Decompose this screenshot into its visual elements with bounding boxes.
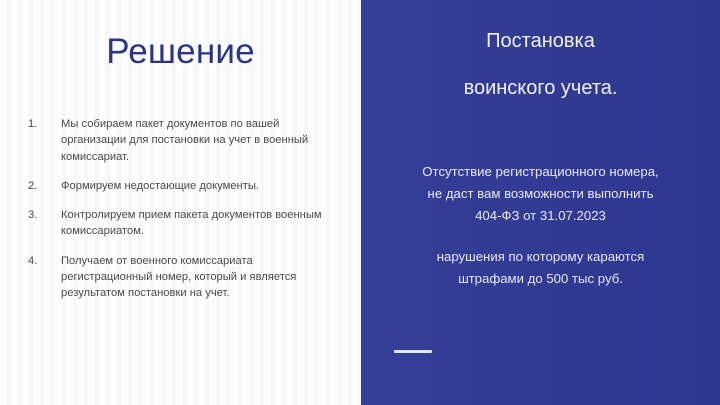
list-item-text: Формируем недостающие документы. <box>61 178 340 194</box>
panel-paragraph-one: Отсутствие регистрационного номера, не д… <box>361 161 720 227</box>
steps-list: 1. Мы собираем пакет документов по вашей… <box>28 116 340 315</box>
panel-paragraph-two: нарушения по которому караются штрафами … <box>361 246 720 290</box>
list-item-number: 4. <box>28 253 61 269</box>
presentation-slide: Решение 1. Мы собираем пакет документов … <box>0 0 720 405</box>
list-item: 4. Получаем от военного комиссариата рег… <box>28 253 340 302</box>
list-item-text: Контролируем прием пакета документов вое… <box>61 207 340 240</box>
list-item-text: Получаем от военного комиссариата регист… <box>61 253 340 302</box>
list-item: 3. Контролируем прием пакета документов … <box>28 207 340 240</box>
panel-heading: Постановка воинского учета. <box>361 18 720 112</box>
panel-heading-line-2: воинского учета. <box>361 65 720 112</box>
list-item-number: 1. <box>28 116 61 132</box>
list-item-text: Мы собираем пакет документов по вашей ор… <box>61 116 340 165</box>
panel-heading-line-1: Постановка <box>361 18 720 65</box>
divider-rule <box>394 350 432 353</box>
left-content-panel: Решение 1. Мы собираем пакет документов … <box>0 0 361 405</box>
right-info-panel: Постановка воинского учета. Отсутствие р… <box>361 0 720 405</box>
page-title: Решение <box>0 33 361 72</box>
paragraph-one-line-3: 404-ФЗ от 31.07.2023 <box>361 205 720 227</box>
paragraph-one-line-2: не даст вам возможности выполнить <box>361 183 720 205</box>
list-item-number: 3. <box>28 207 61 223</box>
list-item: 1. Мы собираем пакет документов по вашей… <box>28 116 340 165</box>
list-item-number: 2. <box>28 178 61 194</box>
list-item: 2. Формируем недостающие документы. <box>28 178 340 194</box>
paragraph-one-line-1: Отсутствие регистрационного номера, <box>361 161 720 183</box>
paragraph-two-line-1: нарушения по которому караются <box>361 246 720 268</box>
paragraph-two-line-2: штрафами до 500 тыс руб. <box>361 268 720 290</box>
